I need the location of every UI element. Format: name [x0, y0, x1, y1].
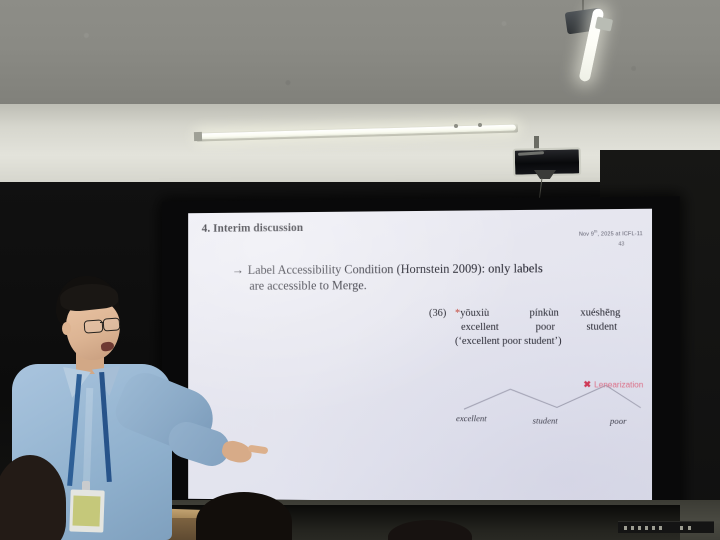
name-badge-insert [72, 496, 100, 527]
presenter-ear [62, 322, 71, 335]
slide-body-text-1: Label Accessibility Condition (Hornstein… [248, 261, 543, 277]
av-control-panel[interactable] [618, 521, 714, 533]
slide-meta-prefix: Nov 9 [579, 231, 594, 237]
linearization-annotation: ✖Lenearization [583, 379, 643, 390]
tree-terminal-1: excellent [456, 413, 487, 423]
example-gloss-2: poor [536, 321, 587, 335]
wall-light-endcap [194, 132, 202, 141]
presenter-mouth [100, 341, 114, 352]
projection-screen-bezel: 4. Interim discussion Nov 9th, 2025 at I… [162, 196, 680, 518]
control-button-icon[interactable] [680, 526, 683, 530]
slide-page-number: 43 [618, 241, 624, 247]
example-number: (36) [429, 307, 455, 321]
tree-terminal-3: poor [610, 416, 627, 426]
example-transcription-2: pínkùn [530, 306, 581, 320]
example-transcription-row: (36)*yōuxiùpínkùnxuéshēng [429, 306, 644, 321]
control-button-icon[interactable] [659, 526, 662, 530]
control-button-icon[interactable] [638, 526, 641, 530]
wall-screw-icon [478, 123, 482, 127]
control-button-icon[interactable] [631, 526, 634, 530]
presentation-slide: 4. Interim discussion Nov 9th, 2025 at I… [188, 209, 652, 504]
example-gloss-3: student [586, 320, 643, 334]
example-gloss-row: excellentpoorstudent [429, 320, 644, 335]
slide-meta-date: Nov 9th, 2025 at ICFL-11 [579, 229, 643, 237]
example-transcription-3: xuéshēng [580, 306, 637, 320]
lecture-photo-scene: 4. Interim discussion Nov 9th, 2025 at I… [0, 0, 720, 540]
slide-meta-suffix: , 2025 at ICFL-11 [598, 231, 643, 237]
slide-body-line-2: are accessible to Merge. [232, 276, 627, 294]
control-button-icon[interactable] [688, 526, 691, 530]
glasses-icon [103, 317, 121, 331]
example-gloss-block: (36)*yōuxiùpínkùnxuéshēng excellentpoors… [429, 306, 644, 349]
syntax-tree-diagram: ✖Lenearization excellent student poor [456, 379, 649, 432]
cross-mark-icon: ✖ [583, 379, 591, 389]
tree-terminal-2: student [533, 415, 558, 425]
wall-screw-icon [454, 124, 458, 128]
control-button-icon[interactable] [624, 526, 627, 530]
control-button-icon[interactable] [645, 526, 648, 530]
linearization-label: Lenearization [594, 380, 643, 389]
control-button-icon[interactable] [652, 526, 655, 530]
example-free-translation: (‘excellent poor student’) [429, 335, 644, 349]
slide-body: →Label Accessibility Condition (Hornstei… [232, 260, 627, 294]
example-transcription-word-1: yōuxiù [460, 308, 489, 319]
screen-glare [188, 209, 652, 504]
glasses-bridge [100, 322, 104, 323]
example-gloss-1: excellent [455, 321, 536, 335]
example-transcription-1: *yōuxiù [455, 307, 530, 321]
ceiling-texture [0, 0, 720, 118]
slide-title: 4. Interim discussion [202, 222, 303, 235]
arrow-icon: → [232, 262, 244, 278]
